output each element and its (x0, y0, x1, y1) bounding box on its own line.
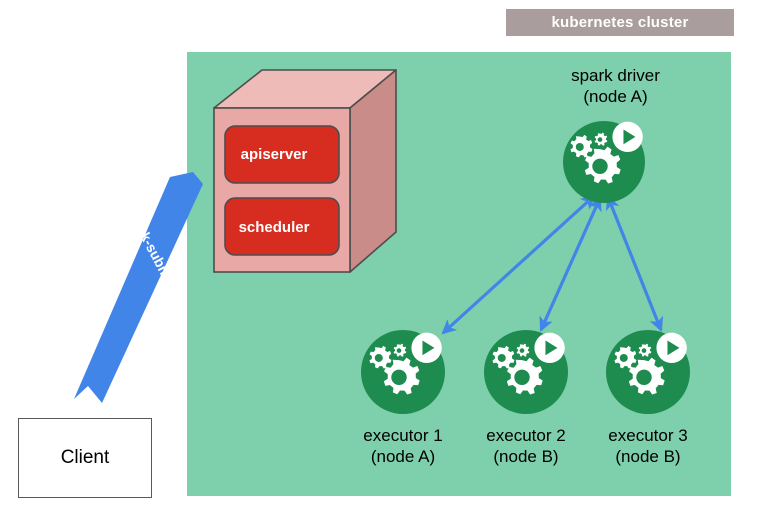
executor-1-label: executor 1 (node A) (343, 425, 463, 467)
client-label: Client (61, 447, 110, 469)
executor-1-node-name: (node A) (343, 446, 463, 467)
executor-2-label: executor 2 (node B) (466, 425, 586, 467)
scheduler-label: scheduler (214, 219, 334, 236)
executor-3-node[interactable] (606, 330, 690, 414)
executor-2-node[interactable] (484, 330, 568, 414)
connector-driver-executor-3 (608, 197, 661, 330)
spark-driver-title: spark driver (523, 65, 708, 86)
executor-2-node-name: (node B) (466, 446, 586, 467)
executor-3-title: executor 3 (588, 425, 708, 446)
client-box[interactable]: Client (18, 418, 152, 498)
executor-1-node[interactable] (361, 330, 445, 414)
executor-1-title: executor 1 (343, 425, 463, 446)
spark-driver-label: spark driver (node A) (523, 65, 708, 107)
executor-3-node-name: (node B) (588, 446, 708, 467)
executor-2-title: executor 2 (466, 425, 586, 446)
apiserver-label: apiserver (214, 146, 334, 163)
spark-driver-node[interactable] (563, 121, 645, 203)
control-plane-cube (214, 70, 396, 272)
executor-3-label: executor 3 (node B) (588, 425, 708, 467)
spark-driver-node-name: (node A) (523, 86, 708, 107)
driver-executor-connectors (443, 196, 661, 333)
